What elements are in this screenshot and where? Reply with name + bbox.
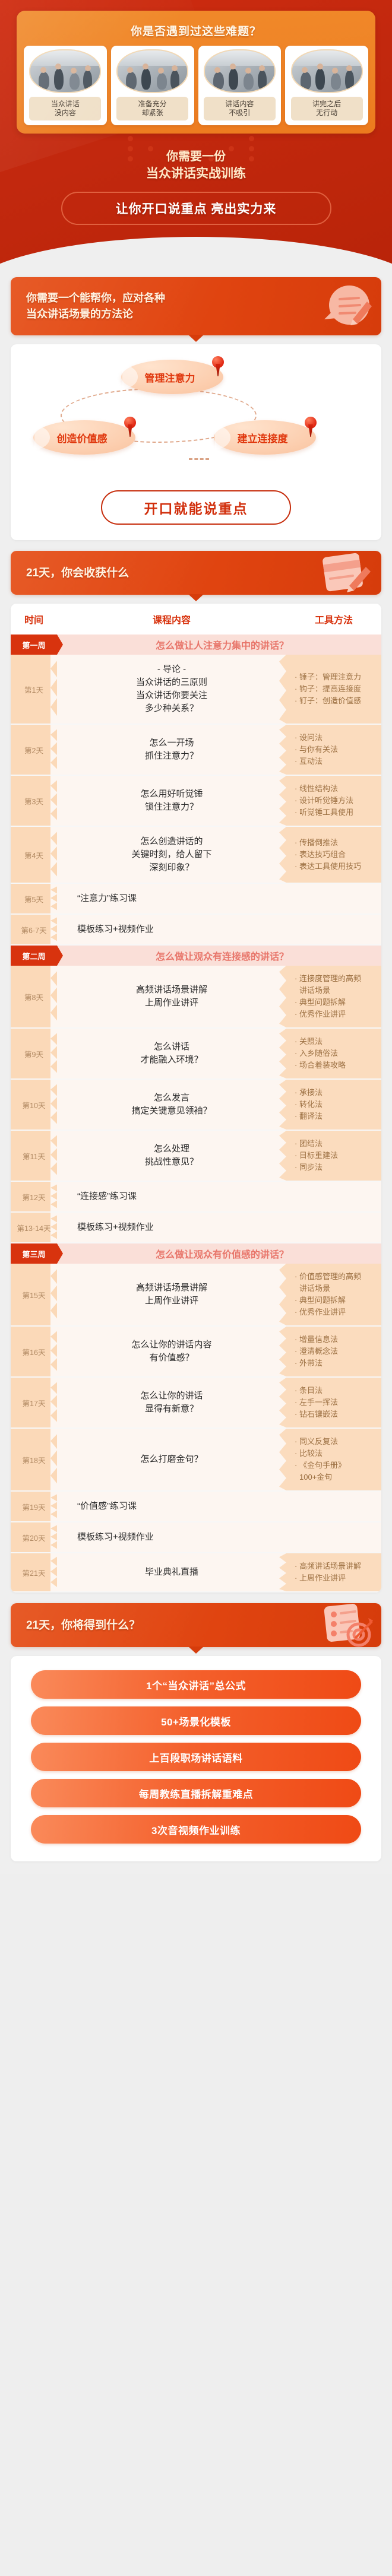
schedule-banner: 21天，你会收获什么 bbox=[11, 551, 381, 595]
schedule-week-header-row: 第一周怎么做让人注意力集中的讲话？ bbox=[11, 635, 381, 655]
pushpin-icon bbox=[210, 356, 226, 376]
schedule-cell-content: 怎么讲话才能融入环境？ bbox=[57, 1028, 286, 1079]
problem-card: 你是否遇到过这些难题？ 当众讲话没内容准备充分却紧张讲话内容不吸引讲完之后无行动 bbox=[17, 11, 375, 134]
schedule-cell-tools: 高频讲话场景讲解上周作业讲评 bbox=[286, 1553, 381, 1592]
tool-item: 目标重建法 bbox=[295, 1150, 377, 1162]
tool-item: 外带法 bbox=[295, 1357, 377, 1369]
method-node-create-value: 创造价值感 bbox=[33, 420, 135, 455]
tool-item: 优秀作业讲评 bbox=[295, 1008, 377, 1020]
schedule-cell-tools: 设问法与你有关法互动法 bbox=[286, 724, 381, 775]
schedule-section: 21天，你会收获什么 时间课程内容工具方法第一周怎么做让人注意力集中的讲话？第1… bbox=[0, 551, 392, 1592]
schedule-week-header-row: 第三周怎么做让观众有价值感的讲话？ bbox=[11, 1243, 381, 1264]
problem-label: 讲话内容不吸引 bbox=[204, 97, 276, 120]
schedule-banner-title: 21天，你会收获什么 bbox=[26, 565, 129, 581]
problem-photo bbox=[29, 49, 101, 93]
tool-item: 翻译法 bbox=[295, 1111, 377, 1122]
tool-item: 锤子：管理注意力 bbox=[295, 671, 377, 683]
outcome-item[interactable]: 3次音视频作业训练 bbox=[31, 1815, 361, 1844]
tool-item: 左手一挥法 bbox=[295, 1397, 377, 1408]
outcomes-banner-title: 21天，你将得到什么？ bbox=[26, 1617, 140, 1633]
outcome-item[interactable]: 每周教练直播拆解重难点 bbox=[31, 1779, 361, 1807]
method-node-label: 建立连接度 bbox=[238, 430, 288, 445]
schedule-day-row: 第11天怎么处理挑战性意见？团结法目标重建法同步法 bbox=[11, 1130, 381, 1181]
schedule-cell-time: 第21天 bbox=[11, 1553, 57, 1592]
problem-label-line-2: 没内容 bbox=[55, 109, 76, 117]
node-notch bbox=[215, 426, 230, 449]
schedule-cell-time: 第12天 bbox=[11, 1181, 57, 1212]
speech-bubble-pen-icon bbox=[316, 283, 373, 330]
outcome-item[interactable]: 50+场景化模板 bbox=[31, 1706, 361, 1735]
schedule-body: 时间课程内容工具方法第一周怎么做让人注意力集中的讲话？第1天- 导论 -当众讲话… bbox=[11, 604, 381, 1592]
methodology-banner-line-2: 当众讲话场景的方法论 bbox=[26, 306, 165, 322]
problem-label-line-2: 无行动 bbox=[316, 109, 337, 117]
diagram-dashed-connector bbox=[189, 458, 209, 460]
schedule-cell-time: 第5天 bbox=[11, 883, 57, 914]
schedule-cell-tools: 锤子：管理注意力钩子：提高连接度钉子：创造价值感 bbox=[286, 655, 381, 724]
schedule-cell-content: “连接感”练习课 bbox=[57, 1181, 381, 1212]
problem-item: 讲话内容不吸引 bbox=[198, 46, 282, 125]
problem-label-line-2: 却紧张 bbox=[142, 109, 163, 117]
schedule-cell-content: 怎么用好听觉锤锁住注意力？ bbox=[57, 775, 286, 826]
schedule-day-row: 第6-7天模板练习+视频作业 bbox=[11, 914, 381, 945]
problem-label-line-2: 不吸引 bbox=[229, 109, 250, 117]
method-node-label: 创造价值感 bbox=[57, 430, 108, 445]
schedule-cell-tools: 团结法目标重建法同步法 bbox=[286, 1130, 381, 1181]
problem-grid: 当众讲话没内容准备充分却紧张讲话内容不吸引讲完之后无行动 bbox=[23, 46, 369, 125]
tool-item: 比较法 bbox=[295, 1448, 377, 1460]
method-node-build-connection: 建立连接度 bbox=[214, 420, 316, 455]
hero-section: 你是否遇到过这些难题？ 当众讲话没内容准备充分却紧张讲话内容不吸引讲完之后无行动… bbox=[0, 0, 392, 267]
tool-item: 线性结构法 bbox=[295, 783, 377, 795]
tool-item: 典型问题拆解 bbox=[295, 1295, 377, 1306]
schedule-day-row: 第5天“注意力”练习课 bbox=[11, 883, 381, 914]
tool-item: 同步法 bbox=[295, 1162, 377, 1173]
methodology-diagram: 管理注意力 创造价值感 建立连接度 bbox=[11, 350, 381, 488]
tool-item: 《金句手册》 bbox=[295, 1460, 377, 1471]
schedule-week-header-row: 第二周怎么做让观众有连接感的讲话？ bbox=[11, 945, 381, 966]
schedule-day-row: 第9天怎么讲话才能融入环境？关照法入乡随俗法场合着装攻略 bbox=[11, 1028, 381, 1079]
schedule-cell-tools: 同义反复法比较法《金句手册》100+金句 bbox=[286, 1428, 381, 1491]
schedule-cell-content: 高频讲话场景讲解上周作业讲评 bbox=[57, 966, 286, 1028]
tool-item: 上周作业讲评 bbox=[295, 1572, 377, 1584]
schedule-cell-time: 第16天 bbox=[11, 1326, 57, 1377]
problem-label: 讲完之后无行动 bbox=[291, 97, 363, 120]
schedule-header-row: 时间课程内容工具方法 bbox=[11, 604, 381, 635]
tool-item: 价值感管理的高频 bbox=[295, 1271, 377, 1283]
pushpin-icon bbox=[122, 417, 138, 437]
schedule-day-row: 第18天怎么打磨金句？同义反复法比较法《金句手册》100+金句 bbox=[11, 1428, 381, 1491]
tool-item: 关照法 bbox=[295, 1036, 377, 1048]
methodology-banner: 你需要一个能帮你，应对各种 当众讲话场景的方法论 bbox=[11, 277, 381, 335]
schedule-day-row: 第4天怎么创造讲话的关键时刻，给人留下深刻印象？传播倒推法表达技巧组合表达工具使… bbox=[11, 826, 381, 883]
decorative-dot bbox=[128, 136, 133, 141]
problem-label: 当众讲话没内容 bbox=[29, 97, 101, 120]
week-chip: 第一周 bbox=[11, 635, 57, 655]
schedule-table: 时间课程内容工具方法第一周怎么做让人注意力集中的讲话？第1天- 导论 -当众讲话… bbox=[11, 604, 381, 1592]
tool-item: 转化法 bbox=[295, 1099, 377, 1111]
tool-item: 传播倒推法 bbox=[295, 837, 377, 849]
page-bottom-spacer bbox=[0, 1861, 392, 1874]
schedule-cell-content: 怎么一开场抓住注意力？ bbox=[57, 724, 286, 775]
outcomes-banner: 21天，你将得到什么？ bbox=[11, 1603, 381, 1647]
tool-item: 设问法 bbox=[295, 732, 377, 744]
methodology-banner-line-1: 你需要一个能帮你，应对各种 bbox=[26, 290, 165, 306]
outcomes-body: 1个“当众讲话”总公式50+场景化模板上百段职场讲话语料每周教练直播拆解重难点3… bbox=[11, 1656, 381, 1861]
tool-item: 与你有关法 bbox=[295, 744, 377, 756]
tool-item: 钩子：提高连接度 bbox=[295, 683, 377, 695]
schedule-day-row: 第3天怎么用好听觉锤锁住注意力？线性结构法设计听觉锤方法听觉锤工具使用 bbox=[11, 775, 381, 826]
schedule-cell-content: 怎么让你的讲话内容有价值感？ bbox=[57, 1326, 286, 1377]
banner-arrow bbox=[188, 1647, 204, 1654]
schedule-day-row: 第15天高频讲话场景讲解上周作业讲评价值感管理的高频讲话场景典型问题拆解优秀作业… bbox=[11, 1264, 381, 1326]
notebook-pencil-icon bbox=[316, 549, 373, 597]
banner-arrow bbox=[188, 335, 204, 342]
week-title: 怎么做让人注意力集中的讲话？ bbox=[57, 635, 381, 655]
tool-item: 设计听觉锤方法 bbox=[295, 795, 377, 807]
hero-slogan-pill: 让你开口说重点 亮出实力来 bbox=[61, 192, 331, 225]
checklist-target-icon bbox=[316, 1601, 373, 1649]
tool-item: 钻石镶嵌法 bbox=[295, 1408, 377, 1420]
tool-item: 澄清概念法 bbox=[295, 1346, 377, 1357]
problem-item: 讲完之后无行动 bbox=[285, 46, 368, 125]
problem-label-line-1: 讲完之后 bbox=[312, 100, 341, 108]
tool-item: 条目法 bbox=[295, 1385, 377, 1397]
schedule-day-row: 第8天高频讲话场景讲解上周作业讲评连接度管理的高频讲话场景典型问题拆解优秀作业讲… bbox=[11, 966, 381, 1028]
method-node-label: 管理注意力 bbox=[145, 370, 195, 385]
tool-item: 100+金句 bbox=[295, 1471, 377, 1483]
schedule-cell-time: 第15天 bbox=[11, 1264, 57, 1326]
schedule-cell-content: 高频讲话场景讲解上周作业讲评 bbox=[57, 1264, 286, 1326]
schedule-cell-content: 毕业典礼直播 bbox=[57, 1553, 286, 1592]
problem-photo bbox=[204, 49, 276, 93]
schedule-cell-time: 第9天 bbox=[11, 1028, 57, 1079]
schedule-cell-content: 怎么发言搞定关键意见领袖？ bbox=[57, 1079, 286, 1130]
schedule-cell-time: 第17天 bbox=[11, 1377, 57, 1428]
outcome-item[interactable]: 1个“当众讲话”总公式 bbox=[31, 1670, 361, 1699]
need-headline-2: 当众讲话实战训练 bbox=[0, 165, 392, 182]
tool-item: 增量信息法 bbox=[295, 1334, 377, 1346]
tool-item: 互动法 bbox=[295, 756, 377, 767]
tool-item: 优秀作业讲评 bbox=[295, 1306, 377, 1318]
tool-item: 同义反复法 bbox=[295, 1436, 377, 1448]
schedule-cell-time: 第2天 bbox=[11, 724, 57, 775]
problem-title: 你是否遇到过这些难题？ bbox=[23, 23, 369, 39]
schedule-col-header-content: 课程内容 bbox=[57, 604, 286, 635]
schedule-cell-time: 第6-7天 bbox=[11, 914, 57, 945]
landing-page: 你是否遇到过这些难题？ 当众讲话没内容准备充分却紧张讲话内容不吸引讲完之后无行动… bbox=[0, 0, 392, 1874]
schedule-cell-content: 怎么处理挑战性意见？ bbox=[57, 1130, 286, 1181]
schedule-cell-time: 第3天 bbox=[11, 775, 57, 826]
schedule-cell-time: 第18天 bbox=[11, 1428, 57, 1491]
week-chip: 第三周 bbox=[11, 1243, 57, 1264]
schedule-cell-time: 第11天 bbox=[11, 1130, 57, 1181]
schedule-day-row: 第20天模板练习+视频作业 bbox=[11, 1522, 381, 1553]
schedule-cell-tools: 价值感管理的高频讲话场景典型问题拆解优秀作业讲评 bbox=[286, 1264, 381, 1326]
tool-item: 承接法 bbox=[295, 1087, 377, 1099]
schedule-cell-content: 怎么打磨金句？ bbox=[57, 1428, 286, 1491]
schedule-cell-content: 模板练习+视频作业 bbox=[57, 914, 381, 945]
schedule-day-row: 第17天怎么让你的讲话显得有新意？条目法左手一挥法钻石镶嵌法 bbox=[11, 1377, 381, 1428]
schedule-day-row: 第16天怎么让你的讲话内容有价值感？增量信息法澄清概念法外带法 bbox=[11, 1326, 381, 1377]
method-node-manage-attention: 管理注意力 bbox=[121, 360, 223, 394]
schedule-cell-content: “价值感”练习课 bbox=[57, 1491, 381, 1522]
outcomes-section: 21天，你将得到什么？ 1个“当众讲话”总公式50+场景化模板上百段职场讲话语 bbox=[0, 1603, 392, 1861]
tool-item: 讲话场景 bbox=[295, 985, 377, 997]
schedule-cell-time: 第13-14天 bbox=[11, 1212, 57, 1243]
week-title: 怎么做让观众有连接感的讲话？ bbox=[57, 946, 381, 966]
schedule-cell-time: 第19天 bbox=[11, 1491, 57, 1522]
need-headline-1: 你需要一份 bbox=[0, 149, 392, 165]
schedule-cell-tools: 线性结构法设计听觉锤方法听觉锤工具使用 bbox=[286, 775, 381, 826]
problem-photo bbox=[291, 49, 363, 93]
outcome-item[interactable]: 上百段职场讲话语料 bbox=[31, 1743, 361, 1771]
schedule-day-row: 第10天怎么发言搞定关键意见领袖？承接法转化法翻译法 bbox=[11, 1079, 381, 1130]
schedule-col-header-tools: 工具方法 bbox=[286, 604, 381, 635]
outcomes-list: 1个“当众讲话”总公式50+场景化模板上百段职场讲话语料每周教练直播拆解重难点3… bbox=[11, 1656, 381, 1861]
problem-label: 准备充分却紧张 bbox=[116, 97, 188, 120]
problem-label-line-1: 当众讲话 bbox=[51, 100, 80, 108]
tool-item: 场合着装攻略 bbox=[295, 1059, 377, 1071]
tool-item: 入乡随俗法 bbox=[295, 1048, 377, 1059]
schedule-cell-time: 第1天 bbox=[11, 655, 57, 724]
schedule-cell-content: 怎么让你的讲话显得有新意？ bbox=[57, 1377, 286, 1428]
tool-item: 团结法 bbox=[295, 1138, 377, 1150]
methodology-section: 你需要一个能帮你，应对各种 当众讲话场景的方法论 bbox=[0, 277, 392, 540]
banner-arrow bbox=[188, 594, 204, 601]
schedule-cell-tools: 关照法入乡随俗法场合着装攻略 bbox=[286, 1028, 381, 1079]
schedule-cell-content: - 导论 -当众讲话的三原则当众讲话你要关注多少种关系？ bbox=[57, 655, 286, 724]
methodology-body: 管理注意力 创造价值感 建立连接度 bbox=[11, 344, 381, 540]
schedule-cell-tools: 增量信息法澄清概念法外带法 bbox=[286, 1326, 381, 1377]
schedule-cell-tools: 条目法左手一挥法钻石镶嵌法 bbox=[286, 1377, 381, 1428]
schedule-day-row: 第13-14天模板练习+视频作业 bbox=[11, 1212, 381, 1243]
schedule-day-row: 第19天“价值感”练习课 bbox=[11, 1491, 381, 1522]
schedule-day-row: 第1天- 导论 -当众讲话的三原则当众讲话你要关注多少种关系？锤子：管理注意力钩… bbox=[11, 655, 381, 724]
schedule-cell-content: 怎么创造讲话的关键时刻，给人留下深刻印象？ bbox=[57, 826, 286, 883]
schedule-cell-time: 第20天 bbox=[11, 1522, 57, 1553]
problem-photo bbox=[116, 49, 188, 93]
need-block: 你需要一份 当众讲话实战训练 让你开口说重点 亮出实力来 bbox=[0, 134, 392, 229]
schedule-day-row: 第12天“连接感”练习课 bbox=[11, 1181, 381, 1212]
schedule-cell-tools: 连接度管理的高频讲话场景典型问题拆解优秀作业讲评 bbox=[286, 966, 381, 1028]
decorative-dot bbox=[249, 136, 254, 141]
tool-item: 听觉锤工具使用 bbox=[295, 807, 377, 819]
week-title: 怎么做让观众有价值感的讲话？ bbox=[57, 1243, 381, 1264]
problem-item: 当众讲话没内容 bbox=[24, 46, 107, 125]
pushpin-icon bbox=[303, 417, 318, 437]
schedule-cell-time: 第10天 bbox=[11, 1079, 57, 1130]
tool-item: 钉子：创造价值感 bbox=[295, 695, 377, 707]
problem-item: 准备充分却紧张 bbox=[111, 46, 194, 125]
tool-item: 连接度管理的高频 bbox=[295, 973, 377, 985]
node-notch bbox=[122, 365, 138, 389]
methodology-cta-pill[interactable]: 开口就能说重点 bbox=[101, 490, 291, 525]
tool-item: 表达工具使用技巧 bbox=[295, 861, 377, 873]
node-notch bbox=[34, 426, 50, 449]
schedule-cell-content: 模板练习+视频作业 bbox=[57, 1212, 381, 1243]
schedule-day-row: 第21天毕业典礼直播高频讲话场景讲解上周作业讲评 bbox=[11, 1553, 381, 1592]
tool-item: 讲话场景 bbox=[295, 1283, 377, 1295]
schedule-cell-tools: 传播倒推法表达技巧组合表达工具使用技巧 bbox=[286, 826, 381, 883]
tool-item: 表达技巧组合 bbox=[295, 849, 377, 861]
schedule-cell-content: “注意力”练习课 bbox=[57, 883, 381, 914]
tool-item: 高频讲话场景讲解 bbox=[295, 1560, 377, 1572]
week-chip: 第二周 bbox=[11, 946, 57, 966]
problem-label-line-1: 讲话内容 bbox=[225, 100, 254, 108]
schedule-cell-content: 模板练习+视频作业 bbox=[57, 1522, 381, 1553]
schedule-cell-time: 第8天 bbox=[11, 966, 57, 1028]
tool-item: 典型问题拆解 bbox=[295, 997, 377, 1008]
schedule-day-row: 第2天怎么一开场抓住注意力？设问法与你有关法互动法 bbox=[11, 724, 381, 775]
problem-label-line-1: 准备充分 bbox=[138, 100, 167, 108]
schedule-cell-tools: 承接法转化法翻译法 bbox=[286, 1079, 381, 1130]
schedule-col-header-time: 时间 bbox=[11, 604, 57, 635]
schedule-cell-time: 第4天 bbox=[11, 826, 57, 883]
